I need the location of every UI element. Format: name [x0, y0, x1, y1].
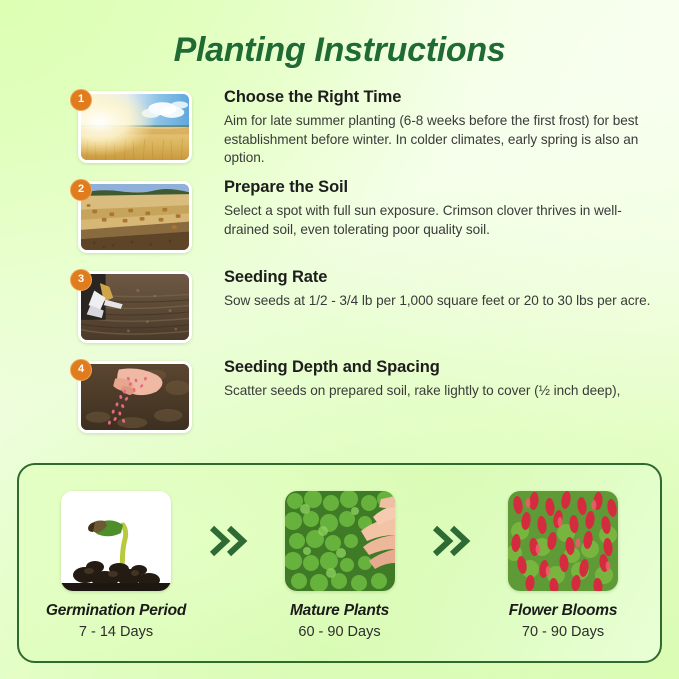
steps-list: 1 Choose the Right Time Aim for late sum…	[70, 86, 665, 446]
step-title: Seeding Depth and Spacing	[224, 357, 665, 377]
step-thumbnail-wrap: 2	[70, 181, 192, 253]
step-thumbnail-wrap: 4	[70, 361, 192, 433]
timeline-stage-name: Mature Plants	[265, 602, 415, 620]
step-item: 2 Prepare the Soil Select a spot with fu…	[70, 176, 665, 266]
timeline-stage-bloom: Flower Blooms 70 - 90 Days	[488, 491, 638, 640]
timeline-stage-days: 60 - 90 Days	[265, 624, 415, 640]
timeline-stage-name: Flower Blooms	[488, 602, 638, 620]
step-text: Prepare the Soil Select a spot with full…	[192, 176, 665, 239]
seed-drill-tilled-soil-photo	[78, 271, 192, 343]
step-number-badge: 1	[70, 89, 92, 111]
timeline-stage-mature: Mature Plants 60 - 90 Days	[265, 491, 415, 640]
timeline-stage-germination: Germination Period 7 - 14 Days	[41, 491, 191, 640]
step-number-badge: 4	[70, 359, 92, 381]
step-text: Seeding Rate Sow seeds at 1/2 - 3/4 lb p…	[192, 266, 665, 311]
double-chevron-right-icon	[415, 491, 489, 591]
step-title: Prepare the Soil	[224, 177, 665, 197]
step-number-badge: 3	[70, 269, 92, 291]
planting-instructions-infographic: Planting Instructions	[0, 0, 679, 679]
step-item: 3 Seeding Rate Sow seeds at 1/2 - 3/4 lb…	[70, 266, 665, 356]
timeline-stage-days: 7 - 14 Days	[41, 624, 191, 640]
timeline-stage-name: Germination Period	[41, 602, 191, 620]
growth-timeline-panel: Germination Period 7 - 14 Days	[17, 463, 662, 663]
step-description: Scatter seeds on prepared soil, rake lig…	[224, 382, 665, 401]
hand-scattering-seeds-photo	[78, 361, 192, 433]
step-thumbnail-wrap: 1	[70, 91, 192, 163]
step-item: 1 Choose the Right Time Aim for late sum…	[70, 86, 665, 176]
wheat-field-sunrise-photo	[78, 91, 192, 163]
step-thumbnail-wrap: 3	[70, 271, 192, 343]
step-description: Sow seeds at 1/2 - 3/4 lb per 1,000 squa…	[224, 292, 665, 311]
step-title: Choose the Right Time	[224, 87, 665, 107]
timeline-row: Germination Period 7 - 14 Days	[19, 465, 660, 661]
crimson-clover-blooms-photo	[508, 491, 618, 591]
step-description: Aim for late summer planting (6-8 weeks …	[224, 112, 665, 168]
step-title: Seeding Rate	[224, 267, 665, 287]
sprouting-seedling-photo	[61, 491, 171, 591]
clover-leaves-hand-photo	[285, 491, 395, 591]
step-number-badge: 2	[70, 179, 92, 201]
timeline-stage-days: 70 - 90 Days	[488, 624, 638, 640]
harvested-field-hay-bales-photo	[78, 181, 192, 253]
step-text: Seeding Depth and Spacing Scatter seeds …	[192, 356, 665, 401]
step-item: 4 Seeding Depth and Spacing Scatter seed…	[70, 356, 665, 446]
step-description: Select a spot with full sun exposure. Cr…	[224, 202, 665, 239]
double-chevron-right-icon	[191, 491, 265, 591]
page-title: Planting Instructions	[0, 31, 679, 70]
step-text: Choose the Right Time Aim for late summe…	[192, 86, 665, 168]
